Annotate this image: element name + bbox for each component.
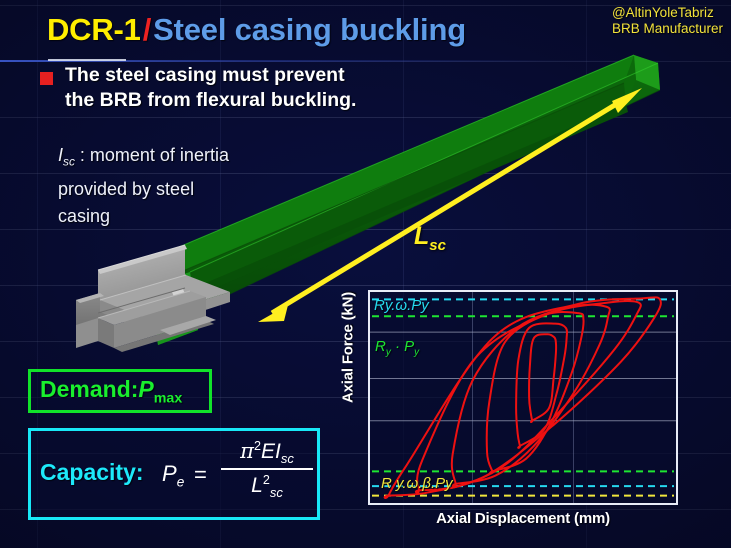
capacity-numerator: π2EIsc: [221, 439, 313, 467]
hysteresis-chart: Axial Force (kN) Axial Displacement (mm)…: [330, 285, 731, 548]
threshold-label-upper-cyan: Ry.ω.Py: [374, 297, 429, 314]
threshold-label-lower-yellow: R y.ω.β.Py: [381, 475, 453, 492]
title-separator: /: [141, 12, 153, 47]
capacity-variable-subscript: e: [177, 474, 185, 489]
demand-variable: P: [138, 376, 153, 402]
page-title: DCR-1/Steel casing buckling: [47, 12, 466, 48]
inertia-note-line-3: casing: [58, 203, 229, 230]
fraction-bar: [221, 468, 313, 470]
inertia-note-rest: : moment of inertia: [75, 145, 229, 165]
pi-exponent: 2: [254, 439, 261, 453]
watermark-handle: @AltinYoleTabriz: [612, 5, 723, 21]
pi-symbol: π: [240, 439, 254, 463]
capacity-denominator: L2sc: [221, 472, 313, 500]
length-label: Lsc: [414, 222, 446, 254]
capacity-fraction: π2EIsc L2sc: [221, 439, 313, 500]
capacity-denominator-subscript: sc: [270, 485, 283, 500]
slide-canvas: DCR-1/Steel casing buckling @AltinYoleTa…: [0, 0, 731, 548]
chart-plot-area: [368, 290, 678, 505]
capacity-box: Capacity: Pe = π2EIsc L2sc: [28, 428, 320, 520]
inertia-note-line-1: Isc : moment of inertia: [58, 142, 229, 176]
chart-hysteresis-loop: [516, 323, 567, 447]
chart-y-axis-title: Axial Force (kN): [340, 283, 357, 413]
demand-subscript: max: [154, 390, 183, 406]
bullet-line-2: the BRB from flexural buckling.: [65, 88, 356, 113]
capacity-equals: =: [194, 462, 207, 488]
inertia-note: Isc : moment of inertia provided by stee…: [58, 142, 229, 230]
watermark: @AltinYoleTabriz BRB Manufacturer: [612, 5, 723, 37]
inertia-symbol-subscript: sc: [63, 155, 75, 169]
threshold-label-upper-green: Ry · Py: [375, 338, 419, 358]
title-underline-accent: [48, 59, 126, 61]
capacity-numerator-subscript: sc: [281, 451, 294, 466]
threshold-green-p: · P: [391, 338, 414, 355]
capacity-denominator-exponent: 2: [263, 473, 270, 487]
demand-label: Demand:: [40, 376, 138, 402]
bullet-marker-icon: [40, 72, 53, 85]
capacity-variable: Pe: [162, 461, 184, 489]
length-symbol: L: [414, 222, 429, 250]
threshold-green-p-sub: y: [414, 347, 419, 358]
capacity-denominator-symbol: L: [251, 474, 263, 497]
bullet-text: The steel casing must prevent the BRB fr…: [65, 63, 356, 113]
capacity-variable-symbol: P: [162, 461, 177, 486]
length-symbol-subscript: sc: [429, 237, 446, 254]
capacity-numerator-rest: EI: [261, 440, 281, 463]
watermark-subtitle: BRB Manufacturer: [612, 21, 723, 37]
demand-box: Demand:Pmax: [28, 369, 212, 413]
title-code: DCR-1: [47, 12, 141, 47]
capacity-label: Capacity:: [40, 459, 144, 486]
chart-hysteresis-loop: [385, 297, 661, 498]
chart-plot-svg: [370, 292, 676, 503]
bullet-line-1: The steel casing must prevent: [65, 63, 356, 88]
demand-formula: Demand:Pmax: [31, 376, 182, 407]
chart-x-axis-title: Axial Displacement (mm): [368, 510, 678, 527]
title-text: Steel casing buckling: [153, 12, 466, 47]
inertia-note-line-2: provided by steel: [58, 176, 229, 203]
threshold-green-r: R: [375, 338, 386, 355]
